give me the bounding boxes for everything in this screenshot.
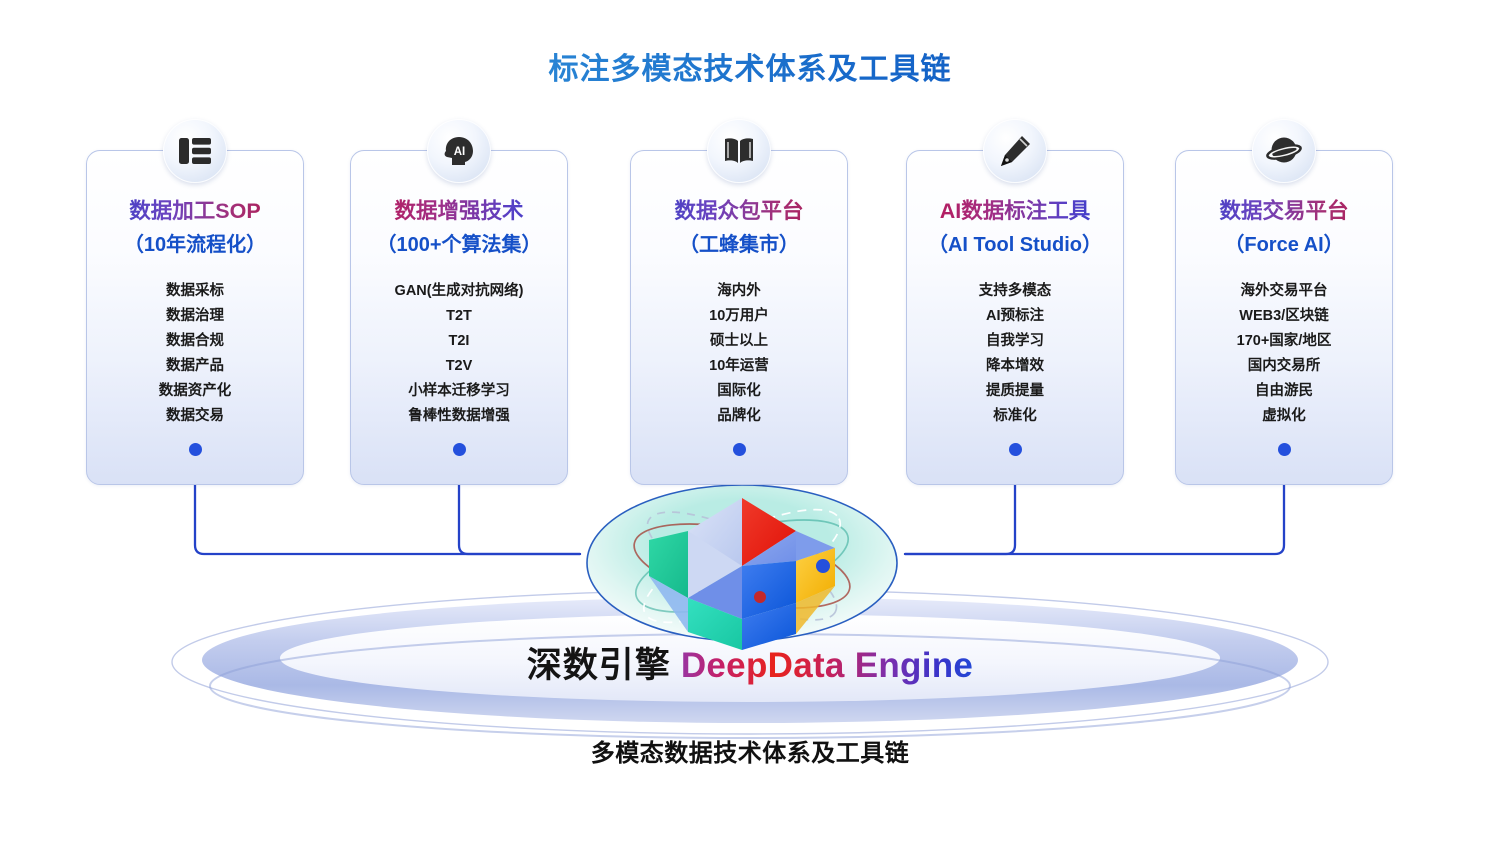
connector-node-dot [189, 443, 202, 456]
card-data-processing-sop[interactable]: 数据加工SOP （10年流程化） 数据采标 数据治理 数据合规 数据产品 数据资… [86, 150, 304, 485]
engine-caption: 深数引擎 DeepData Engine [0, 637, 1500, 688]
card-title: AI数据标注工具 [907, 198, 1123, 226]
list-item: 硕士以上 [631, 329, 847, 354]
list-item: 数据治理 [87, 304, 303, 329]
list-item: GAN(生成对抗网络) [351, 279, 567, 304]
list-item: 品牌化 [631, 404, 847, 429]
card-data-exchange-platform[interactable]: 数据交易平台 （Force AI） 海外交易平台 WEB3/区块链 170+国家… [1175, 150, 1393, 485]
list-item: 支持多模态 [907, 279, 1123, 304]
list-item: 数据产品 [87, 354, 303, 379]
card-title: 数据加工SOP [87, 198, 303, 226]
list-item: 降本增效 [907, 354, 1123, 379]
list-item: 数据采标 [87, 279, 303, 304]
connector-node-dot [1009, 443, 1022, 456]
ai-head-icon: AI [427, 119, 491, 183]
engine-name-en: DeepData Engine [671, 646, 973, 685]
list-item: AI预标注 [907, 304, 1123, 329]
list-item: 国内交易所 [1176, 354, 1392, 379]
card-subtitle: （Force AI） [1176, 228, 1392, 257]
card-subtitle: （100+个算法集） [351, 228, 567, 257]
list-item: WEB3/区块链 [1176, 304, 1392, 329]
card-title: 数据众包平台 [631, 198, 847, 226]
orbit-dot-red [754, 591, 766, 603]
card-crowdsourcing-platform[interactable]: 数据众包平台 （工蜂集市） 海内外 10万用户 硕士以上 10年运营 国际化 品… [630, 150, 848, 485]
list-layout-icon [163, 119, 227, 183]
list-item: 鲁棒性数据增强 [351, 404, 567, 429]
list-item: 10年运营 [631, 354, 847, 379]
list-item: 自由游民 [1176, 379, 1392, 404]
list-item: 海外交易平台 [1176, 279, 1392, 304]
list-item: 海内外 [631, 279, 847, 304]
engine-name-cn: 深数引擎 [527, 646, 671, 685]
card-title: 数据交易平台 [1176, 198, 1392, 226]
list-item: T2T [351, 304, 567, 329]
orbit-dot-blue [816, 559, 830, 573]
list-item: 数据合规 [87, 329, 303, 354]
list-item: 小样本迁移学习 [351, 379, 567, 404]
svg-text:AI: AI [454, 146, 466, 158]
list-item: T2V [351, 354, 567, 379]
list-item: 国际化 [631, 379, 847, 404]
list-item: 自我学习 [907, 329, 1123, 354]
list-item: 数据资产化 [87, 379, 303, 404]
card-feature-list: 数据采标 数据治理 数据合规 数据产品 数据资产化 数据交易 [87, 279, 303, 429]
list-item: 10万用户 [631, 304, 847, 329]
card-feature-list: 支持多模态 AI预标注 自我学习 降本增效 提质提量 标准化 [907, 279, 1123, 429]
page-title: 标注多模态技术体系及工具链 [0, 44, 1500, 88]
card-ai-annotation-tool[interactable]: AI数据标注工具 （AI Tool Studio） 支持多模态 AI预标注 自我… [906, 150, 1124, 485]
pen-nib-icon [983, 119, 1047, 183]
planet-icon [1252, 119, 1316, 183]
card-subtitle: （AI Tool Studio） [907, 228, 1123, 257]
connector-node-dot [733, 443, 746, 456]
card-subtitle: （工蜂集市） [631, 228, 847, 257]
open-book-icon [707, 119, 771, 183]
list-item: 提质提量 [907, 379, 1123, 404]
card-feature-list: 海内外 10万用户 硕士以上 10年运营 国际化 品牌化 [631, 279, 847, 429]
list-item: T2I [351, 329, 567, 354]
card-title: 数据增强技术 [351, 198, 567, 226]
list-item: 170+国家/地区 [1176, 329, 1392, 354]
connector-node-dot [453, 443, 466, 456]
card-data-augmentation[interactable]: AI 数据增强技术 （100+个算法集） GAN(生成对抗网络) T2T T2I… [350, 150, 568, 485]
list-item: 虚拟化 [1176, 404, 1392, 429]
footer-title: 多模态数据技术体系及工具链 [0, 733, 1500, 768]
connector-node-dot [1278, 443, 1291, 456]
list-item: 标准化 [907, 404, 1123, 429]
card-feature-list: 海外交易平台 WEB3/区块链 170+国家/地区 国内交易所 自由游民 虚拟化 [1176, 279, 1392, 429]
list-item: 数据交易 [87, 404, 303, 429]
card-subtitle: （10年流程化） [87, 228, 303, 257]
card-feature-list: GAN(生成对抗网络) T2T T2I T2V 小样本迁移学习 鲁棒性数据增强 [351, 279, 567, 429]
